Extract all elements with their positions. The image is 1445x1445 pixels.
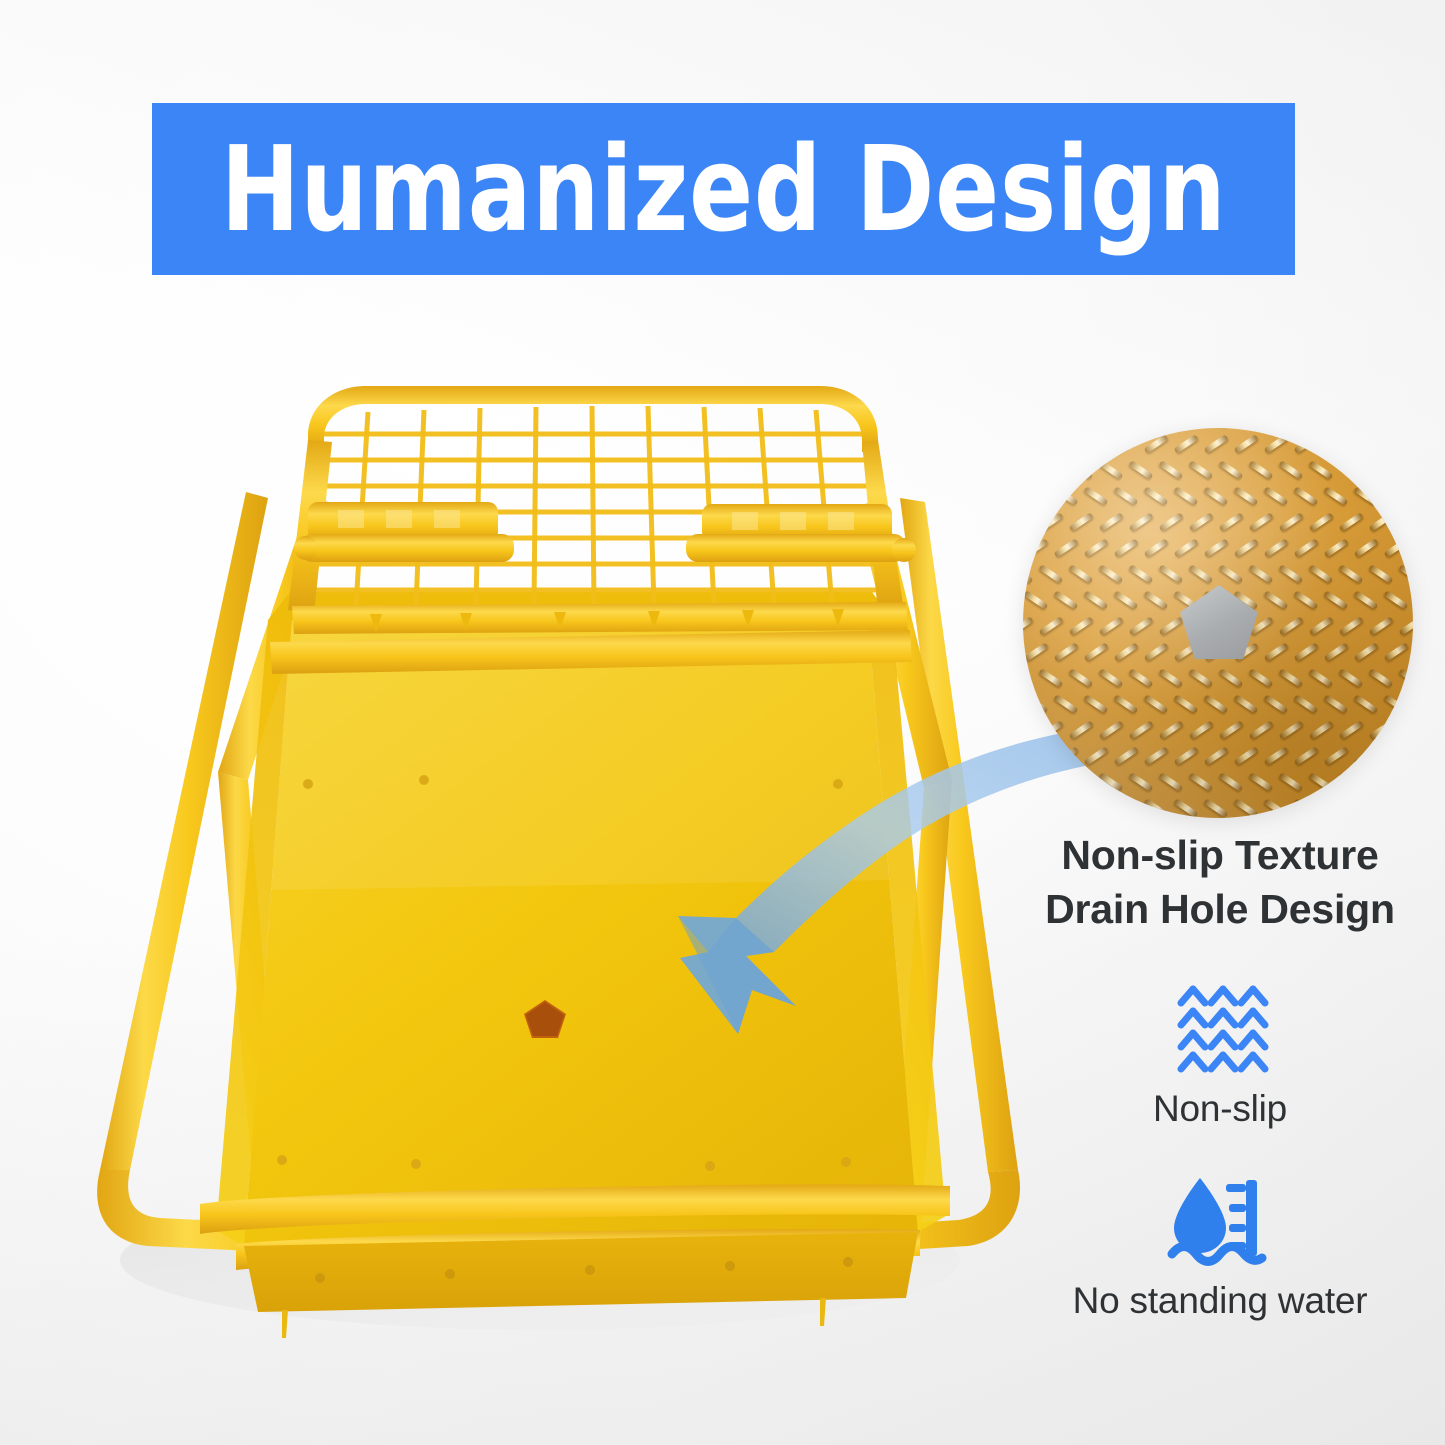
feature-heading: Non-slip Texture Drain Hole Design [1020, 828, 1420, 936]
water-droplet-gauge-icon [1020, 1174, 1420, 1270]
feature-item-non-slip: Non-slip [1020, 982, 1420, 1130]
product-image [20, 380, 1030, 1340]
feature-column: Non-slip Texture Drain Hole Design [1020, 828, 1420, 1322]
feature-heading-line-1: Non-slip Texture [1020, 828, 1420, 882]
feature-label-non-slip: Non-slip [1020, 1088, 1420, 1130]
feature-heading-line-2: Drain Hole Design [1020, 882, 1420, 936]
non-slip-texture-closeup [1023, 428, 1413, 818]
hinge-bracket-left [294, 502, 514, 562]
headline-banner: Humanized Design [152, 103, 1295, 275]
marketing-image-canvas: Humanized Design [0, 0, 1445, 1445]
herringbone-pattern-icon [1020, 982, 1420, 1078]
banner-title: Humanized Design [221, 130, 1227, 248]
hinge-bracket-right [686, 504, 916, 562]
feature-label-no-standing-water: No standing water [1020, 1280, 1420, 1322]
feature-item-no-standing-water: No standing water [1020, 1174, 1420, 1322]
